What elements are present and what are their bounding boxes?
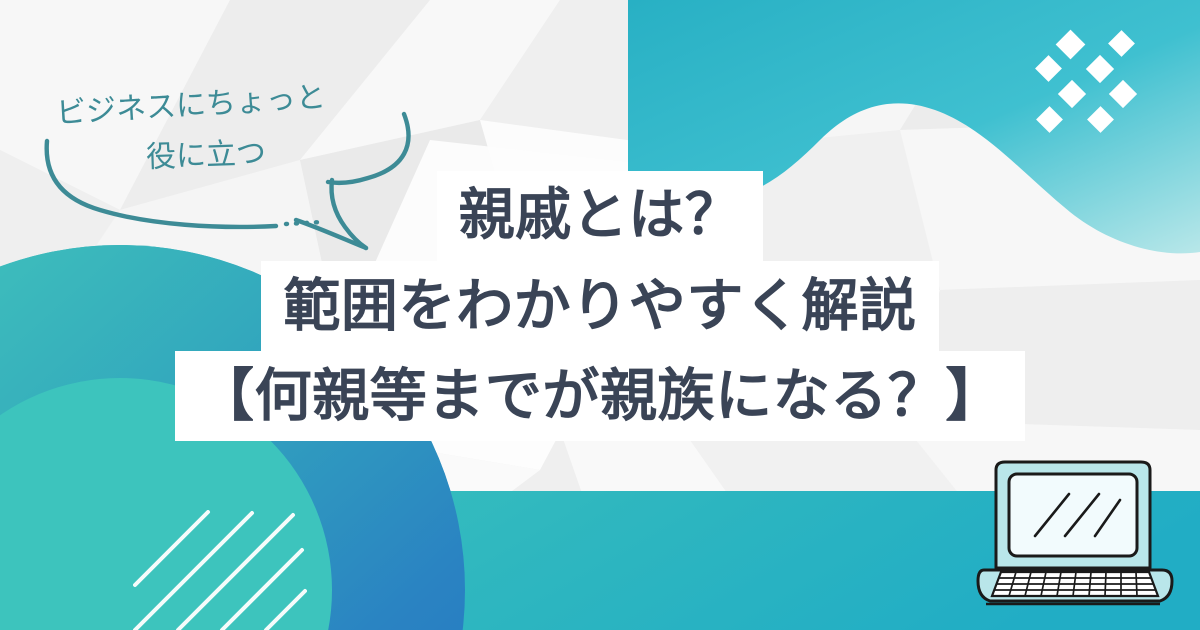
catch-copy-line2: 役に立つ — [145, 132, 266, 180]
thumbnail-canvas: ビジネスにちょっと 役に立つ 親戚とは？ 範囲をわかりやすく解説 【何親等までが… — [0, 0, 1200, 630]
catch-copy-line1: ビジネスにちょっと — [55, 76, 327, 136]
catch-copy: ビジネスにちょっと 役に立つ — [26, 62, 456, 282]
laptop-screen — [1009, 474, 1137, 556]
title-line-1: 親戚とは？ — [437, 171, 764, 261]
title-line-3: 【何親等までが親族になる？】 — [175, 351, 1025, 441]
laptop-illustration — [968, 458, 1178, 623]
